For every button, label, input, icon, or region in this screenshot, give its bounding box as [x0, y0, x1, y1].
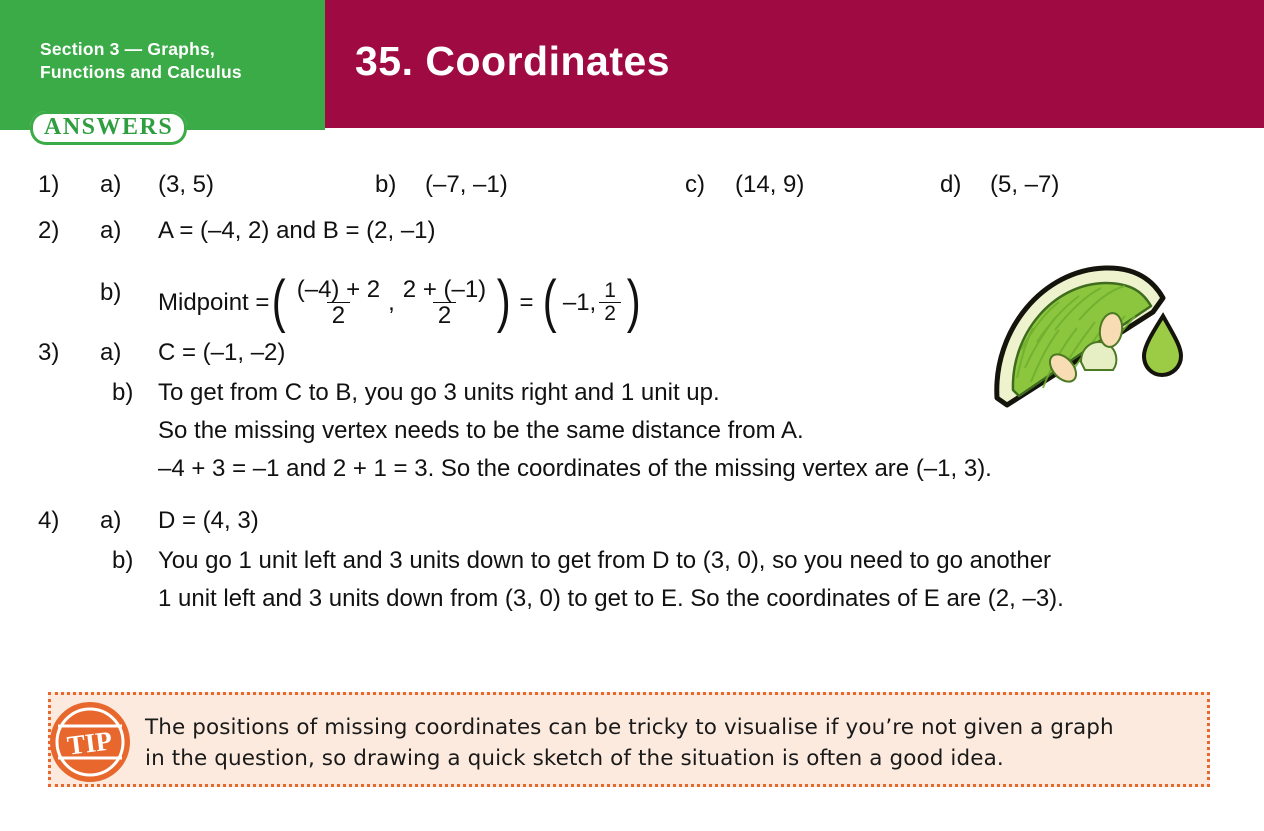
answer-1c: (14, 9)	[735, 170, 804, 201]
formula-comma: ,	[388, 288, 395, 319]
answer-3b-line-3: –4 + 3 = –1 and 2 + 1 = 3. So the coordi…	[158, 454, 992, 485]
answer-4b-line-2: 1 unit left and 3 units down from (3, 0)…	[158, 584, 1064, 615]
part-letter-1b: b)	[375, 170, 396, 201]
question-number-1: 1)	[38, 170, 59, 201]
answer-2b-midpoint-formula: Midpoint = ( (–4) + 2 2 , 2 + (–1) 2 ) =…	[158, 278, 643, 329]
midpoint-result-fraction: 1 2	[599, 280, 621, 325]
tip-text-line1: The positions of missing coordinates can…	[145, 712, 1185, 743]
fraction-x-numerator: (–4) + 2	[292, 277, 385, 302]
tip-stamp-icon: TIP	[48, 700, 132, 784]
tip-badge-label: TIP	[65, 725, 113, 760]
section-label-line1: Section 3 — Graphs,	[40, 38, 302, 61]
fraction-y-denominator: 2	[433, 302, 456, 328]
question-number-2: 2)	[38, 216, 59, 247]
midpoint-result-x: –1,	[563, 288, 596, 319]
result-fraction-numerator: 1	[599, 280, 621, 302]
part-letter-2a: a)	[100, 216, 121, 247]
question-number-3: 3)	[38, 338, 59, 369]
result-fraction-denominator: 2	[599, 302, 621, 325]
fraction-y: 2 + (–1) 2	[398, 277, 491, 328]
answer-1b: (–7, –1)	[425, 170, 508, 201]
answer-3b-line-1: To get from C to B, you go 3 units right…	[158, 378, 720, 409]
tip-badge: TIP	[48, 700, 132, 784]
answer-1a: (3, 5)	[158, 170, 214, 201]
fraction-y-numerator: 2 + (–1)	[398, 277, 491, 302]
part-letter-3b: b)	[112, 378, 133, 409]
part-letter-1c: c)	[685, 170, 705, 201]
answer-1d: (5, –7)	[990, 170, 1059, 201]
lime-slice-icon	[985, 250, 1195, 430]
fraction-x: (–4) + 2 2	[292, 277, 385, 328]
answer-4b-line-1: You go 1 unit left and 3 units down to g…	[158, 546, 1051, 577]
midpoint-label: Midpoint =	[158, 288, 269, 319]
tip-text-line2: in the question, so drawing a quick sket…	[145, 743, 1185, 774]
part-letter-1d: d)	[940, 170, 961, 201]
part-letter-4b: b)	[112, 546, 133, 577]
answer-3a: C = (–1, –2)	[158, 338, 285, 369]
part-letter-4a: a)	[100, 506, 121, 537]
fraction-x-denominator: 2	[327, 302, 350, 328]
question-number-4: 4)	[38, 506, 59, 537]
section-label-line2: Functions and Calculus	[40, 61, 302, 84]
part-letter-3a: a)	[100, 338, 121, 369]
lime-slice-illustration	[985, 250, 1195, 430]
part-letter-1a: a)	[100, 170, 121, 201]
answer-3b-line-2: So the missing vertex needs to be the sa…	[158, 416, 804, 447]
formula-equals: =	[520, 288, 534, 319]
section-label: Section 3 — Graphs, Functions and Calcul…	[40, 38, 302, 84]
page-header: Section 3 — Graphs, Functions and Calcul…	[0, 0, 1264, 128]
part-letter-2b: b)	[100, 278, 121, 309]
answer-4a: D = (4, 3)	[158, 506, 259, 537]
tip-text: The positions of missing coordinates can…	[145, 712, 1185, 774]
answer-2a: A = (–4, 2) and B = (2, –1)	[158, 216, 436, 247]
page-title: 35. Coordinates	[355, 38, 670, 85]
